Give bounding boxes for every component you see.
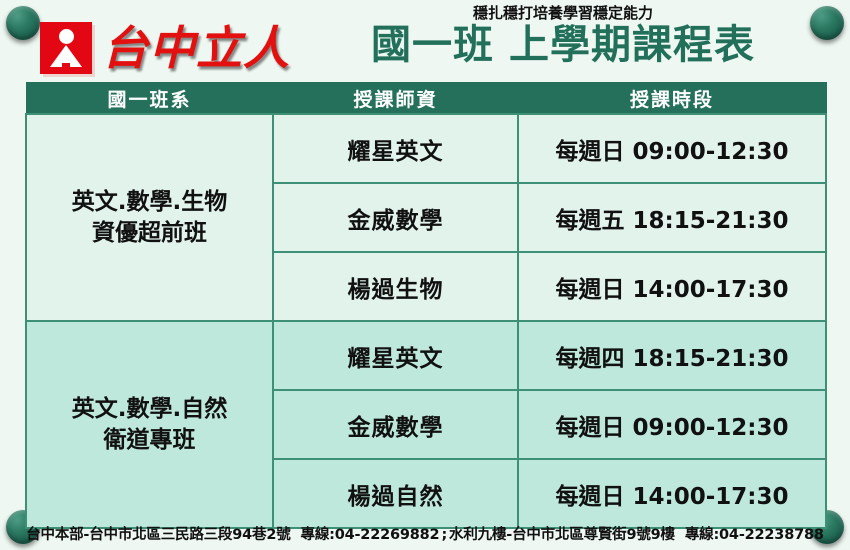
brand-logo: 台中立人: [40, 22, 290, 74]
branch2-phone: 專線:04-22238788: [685, 527, 824, 543]
title-block: 穩扎穩打培養學習穩定能力 國一班 上學期課程表: [328, 4, 798, 68]
person-in-square-icon: [40, 22, 92, 74]
brand-name: 台中立人: [102, 25, 290, 71]
table-row: 英文.數學.生物 資優超前班 耀星英文 每週日 09:00-12:30: [26, 114, 826, 183]
logo-head-shape: [59, 29, 74, 44]
time-cell: 每週日 09:00-12:30: [518, 114, 826, 183]
class-name-line2: 資優超前班: [27, 218, 272, 248]
teacher-cell: 金威數學: [273, 183, 518, 252]
poster-subtitle: 穩扎穩打培養學習穩定能力: [328, 4, 798, 22]
time-cell: 每週五 18:15-21:30: [518, 183, 826, 252]
schedule-table: 國一班系 授課師資 授課時段 英文.數學.生物 資優超前班 耀星英文 每週日 0…: [25, 82, 827, 529]
branch1-phone: 專線:04-22269882: [301, 527, 440, 543]
branch2-address: 水利九樓-台中市北區尊賢街9號9樓: [449, 527, 675, 543]
class-name-cell-group-a: 英文.數學.生物 資優超前班: [26, 114, 273, 321]
footer-separator: ;: [439, 527, 449, 543]
table-row: 英文.數學.自然 衛道專班 耀星英文 每週四 18:15-21:30: [26, 321, 826, 390]
class-name-cell-group-b: 英文.數學.自然 衛道專班: [26, 321, 273, 528]
time-cell: 每週日 14:00-17:30: [518, 252, 826, 321]
time-cell: 每週四 18:15-21:30: [518, 321, 826, 390]
class-name-line1: 英文.數學.生物: [27, 187, 272, 217]
course-schedule-poster: 台中立人 穩扎穩打培養學習穩定能力 國一班 上學期課程表 國一班系 授課師資 授…: [0, 0, 850, 550]
teacher-cell: 楊過自然: [273, 459, 518, 528]
poster-footer: 台中本部-台中市北區三民路三段94巷2號專線:04-22269882;水利九樓-…: [0, 523, 850, 544]
poster-header: 台中立人 穩扎穩打培養學習穩定能力 國一班 上學期課程表: [0, 0, 850, 82]
teacher-cell: 金威數學: [273, 390, 518, 459]
logo-notch-shape: [62, 63, 70, 74]
time-cell: 每週日 09:00-12:30: [518, 390, 826, 459]
class-name-line1: 英文.數學.自然: [27, 394, 272, 424]
time-cell: 每週日 14:00-17:30: [518, 459, 826, 528]
class-name-line2: 衛道專班: [27, 425, 272, 455]
column-header-class: 國一班系: [26, 83, 273, 115]
column-header-time: 授課時段: [518, 83, 826, 115]
branch1-address: 台中本部-台中市北區三民路三段94巷2號: [26, 527, 290, 543]
teacher-cell: 楊過生物: [273, 252, 518, 321]
page-title: 國一班 上學期課程表: [328, 23, 798, 68]
teacher-cell: 耀星英文: [273, 321, 518, 390]
teacher-cell: 耀星英文: [273, 114, 518, 183]
column-header-teacher: 授課師資: [273, 83, 518, 115]
table-header-row: 國一班系 授課師資 授課時段: [26, 83, 826, 115]
